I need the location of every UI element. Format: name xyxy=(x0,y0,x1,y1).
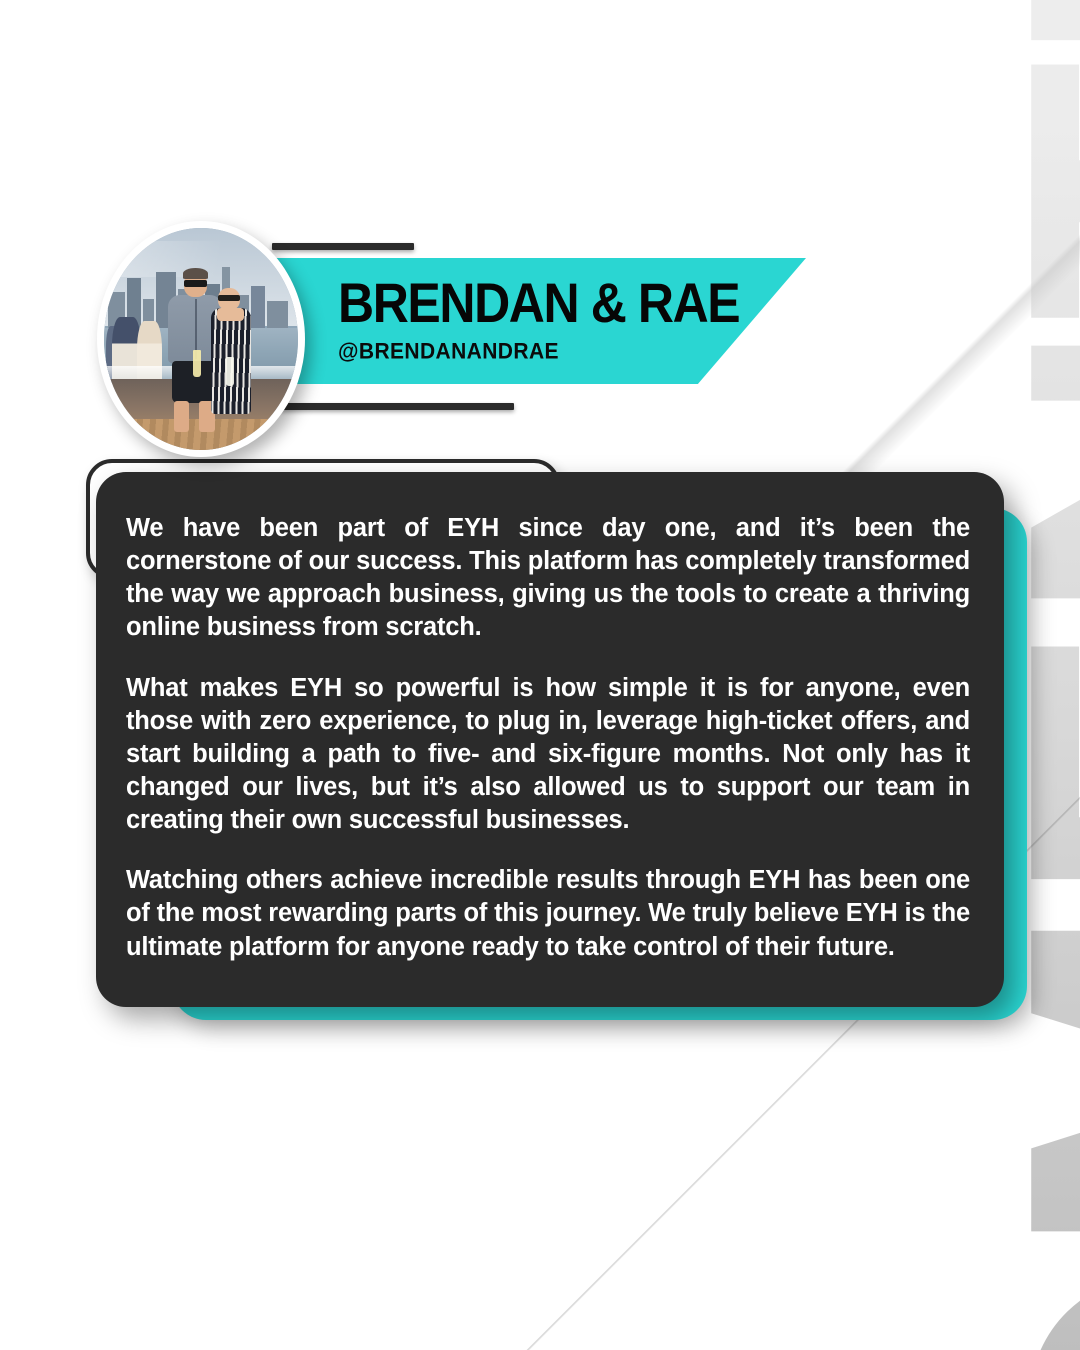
testimonial-card: We have been part of EYH since day one, … xyxy=(96,472,1004,1007)
testimonial-paragraph: Watching others achieve incredible resul… xyxy=(126,864,970,963)
photo-drink-glass-right xyxy=(226,357,234,386)
testimonial-card-stack: We have been part of EYH since day one, … xyxy=(0,0,1080,1350)
photo-man-sunglasses xyxy=(184,280,207,287)
testimonial-paragraph: What makes EYH so powerful is how simple… xyxy=(126,672,970,838)
photo-man-leg-left xyxy=(174,401,190,432)
photo-drink-glass-left xyxy=(193,350,201,377)
photo-man-hair xyxy=(183,268,208,279)
photo-woman-sunglasses xyxy=(218,295,239,302)
testimonial-graphic: MOMENTUM BRENDAN & RAE @BRENDANANDRAE xyxy=(0,0,1080,1350)
avatar xyxy=(97,221,305,457)
avatar-photo xyxy=(104,228,298,450)
testimonial-paragraph: We have been part of EYH since day one, … xyxy=(126,512,970,645)
